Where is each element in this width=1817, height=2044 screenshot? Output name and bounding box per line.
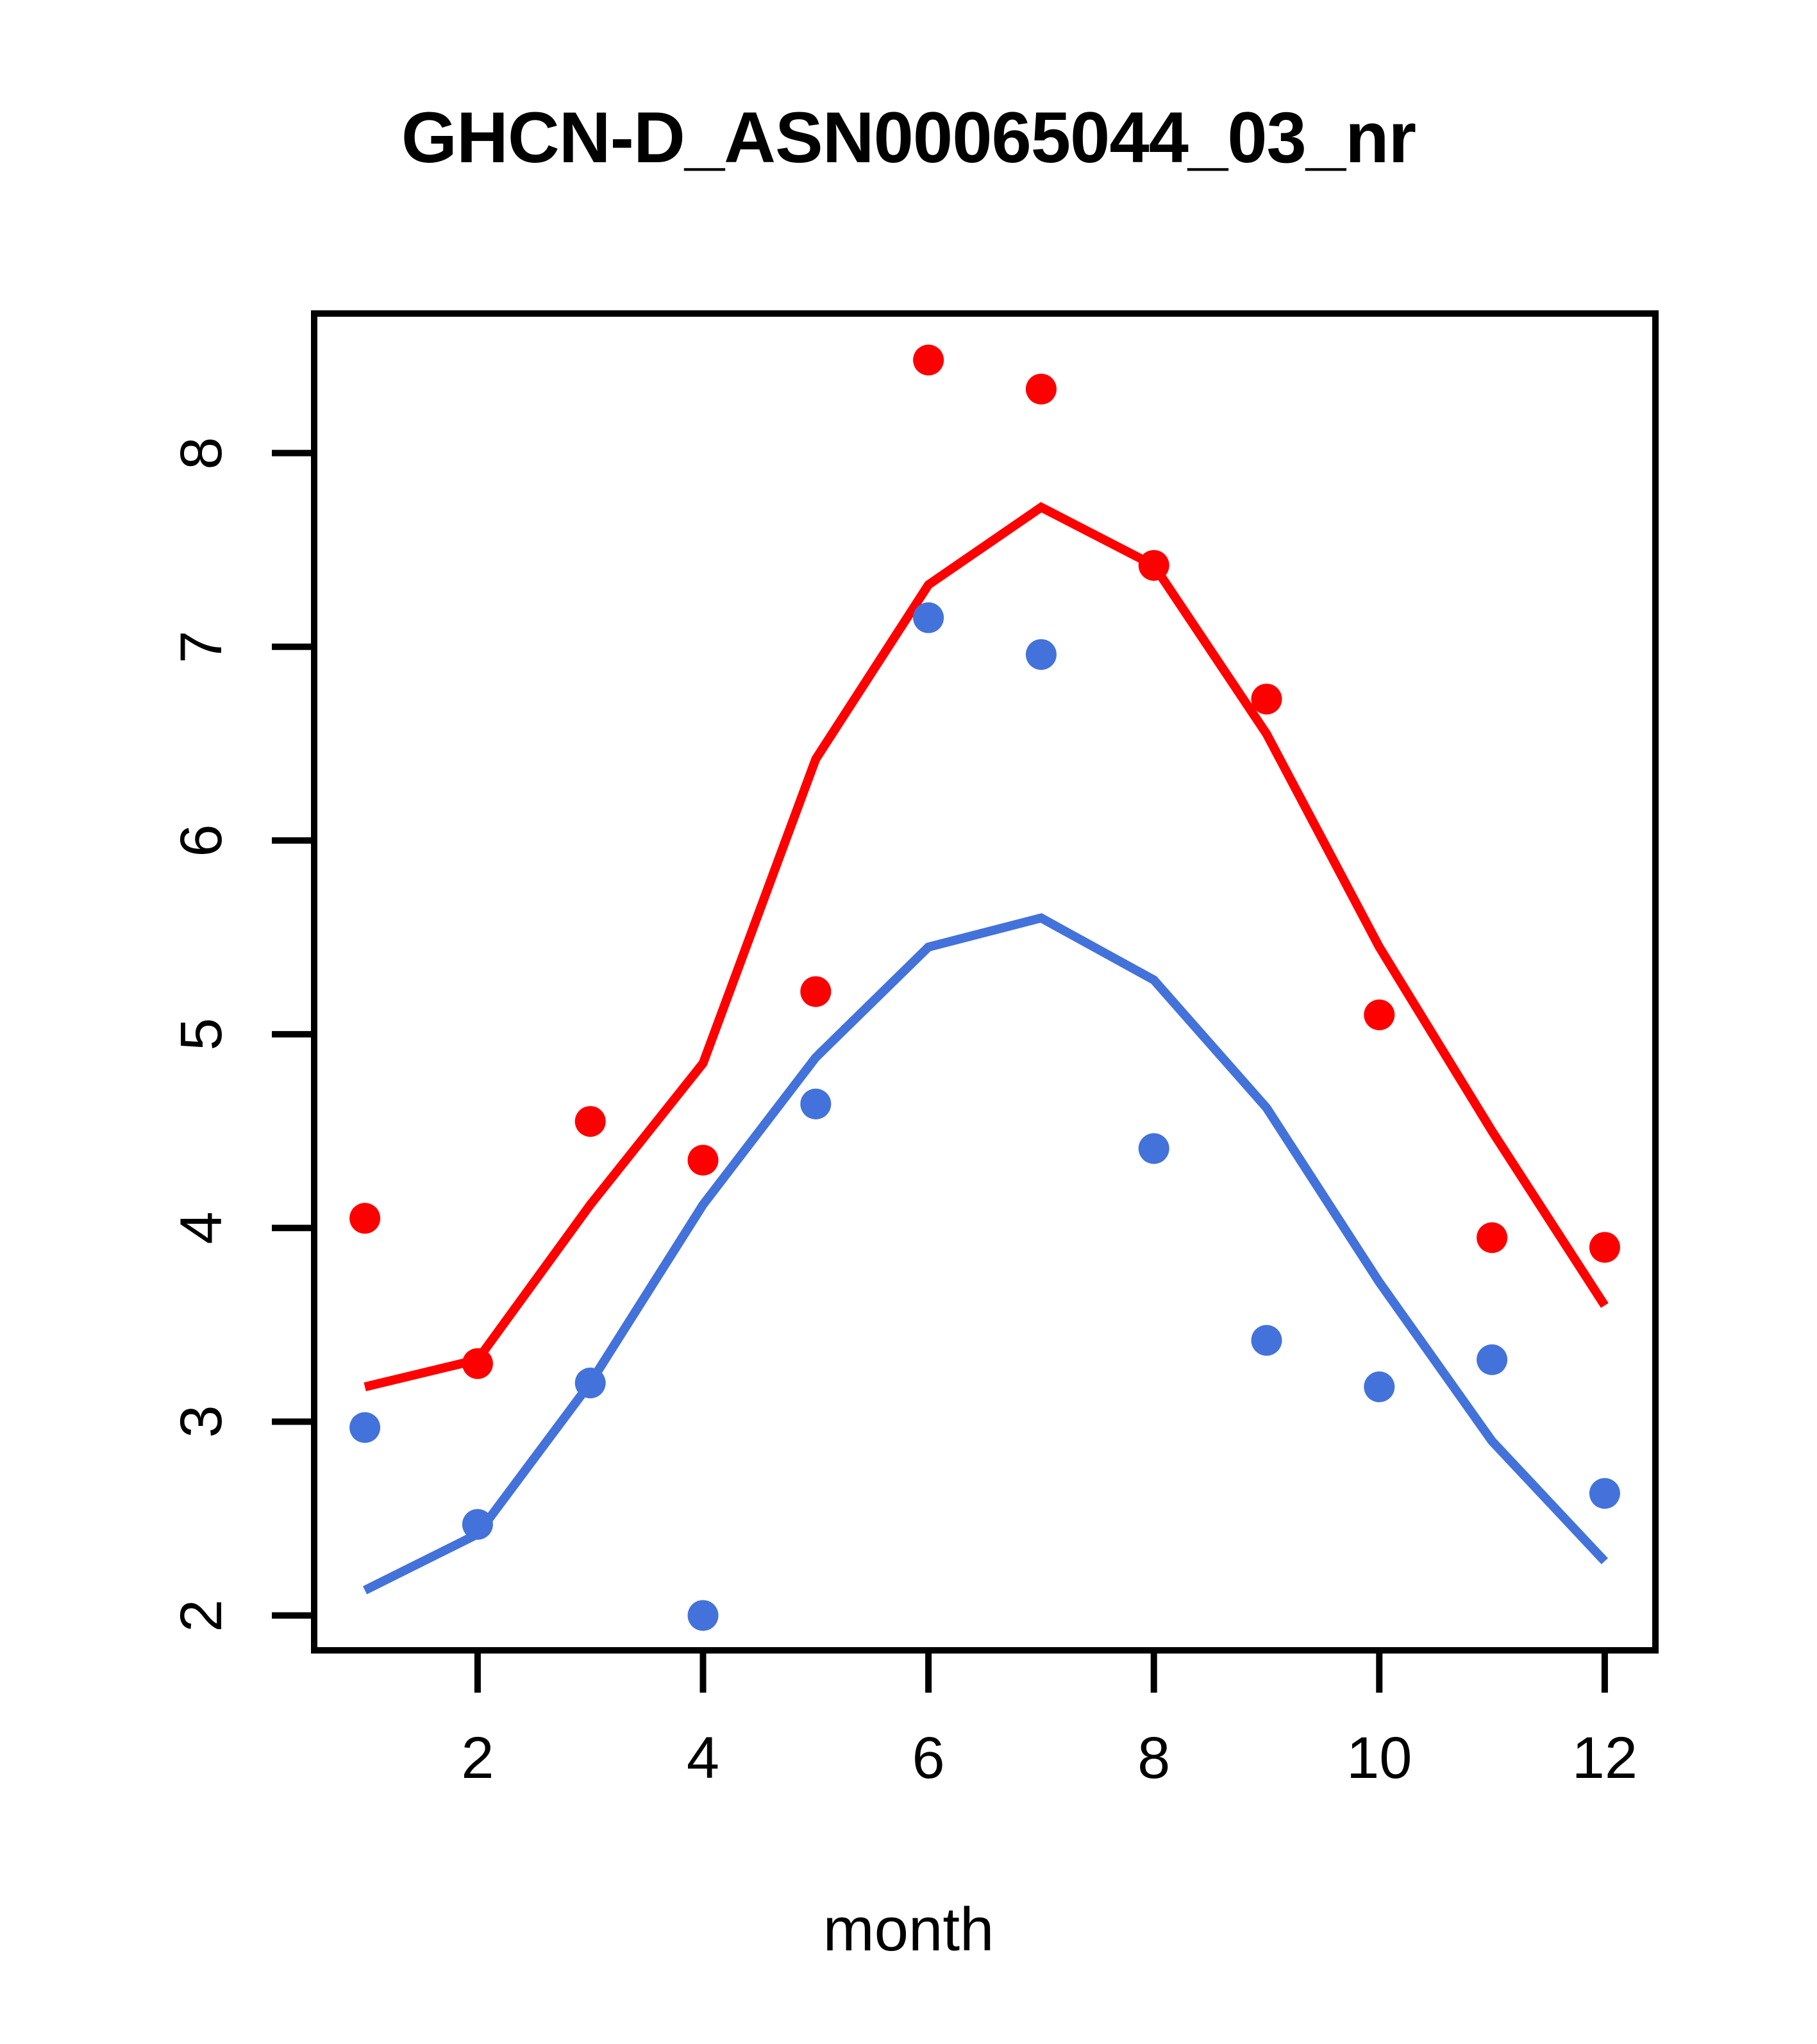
red-points-12 <box>1589 1232 1620 1262</box>
x-tick-label-2: 2 <box>407 1725 548 1792</box>
y-tick-label-7: 7 <box>168 608 235 685</box>
red-points-6 <box>913 345 944 376</box>
red-points-8 <box>1139 550 1169 581</box>
y-tick-label-3: 3 <box>168 1383 235 1460</box>
blue-points-1 <box>349 1412 380 1443</box>
x-tick-label-4: 4 <box>633 1725 774 1792</box>
plot-area: 2345678 24681012 <box>0 0 1817 2044</box>
blue-points-6 <box>913 602 944 633</box>
red-line <box>365 507 1605 1387</box>
blue-points-7 <box>1026 639 1057 670</box>
y-tick-label-4: 4 <box>168 1189 235 1266</box>
blue-points-12 <box>1589 1478 1620 1509</box>
blue-points-2 <box>462 1509 493 1540</box>
red-points-7 <box>1026 374 1057 405</box>
chart-figure: GHCN-D_ASN00065044_03_nr 2345678 2468101… <box>0 0 1817 2044</box>
red-points-5 <box>800 976 831 1007</box>
x-tick-label-12: 12 <box>1534 1725 1675 1792</box>
y-tick-label-8: 8 <box>168 415 235 492</box>
blue-points-3 <box>575 1368 606 1398</box>
x-axis-label: month <box>0 1895 1817 1965</box>
blue-points-9 <box>1251 1325 1282 1356</box>
plot-border <box>314 314 1655 1650</box>
red-points-3 <box>575 1106 606 1137</box>
axes-group <box>272 314 1655 1693</box>
y-tick-label-6: 6 <box>168 802 235 879</box>
blue-points-10 <box>1364 1371 1394 1402</box>
series-group <box>349 345 1620 1631</box>
red-points-10 <box>1364 1000 1394 1030</box>
red-points-1 <box>349 1203 380 1234</box>
y-tick-label-2: 2 <box>168 1577 235 1654</box>
red-points-4 <box>688 1145 719 1176</box>
x-tick-label-8: 8 <box>1084 1725 1225 1792</box>
blue-points-8 <box>1139 1133 1169 1164</box>
blue-points-4 <box>688 1600 719 1631</box>
blue-points-11 <box>1477 1345 1507 1375</box>
red-points-9 <box>1251 683 1282 714</box>
blue-points-5 <box>800 1089 831 1119</box>
red-points-11 <box>1477 1222 1507 1253</box>
red-points-2 <box>462 1348 493 1379</box>
y-tick-label-5: 5 <box>168 996 235 1073</box>
x-tick-label-6: 6 <box>858 1725 999 1792</box>
x-tick-label-10: 10 <box>1309 1725 1450 1792</box>
